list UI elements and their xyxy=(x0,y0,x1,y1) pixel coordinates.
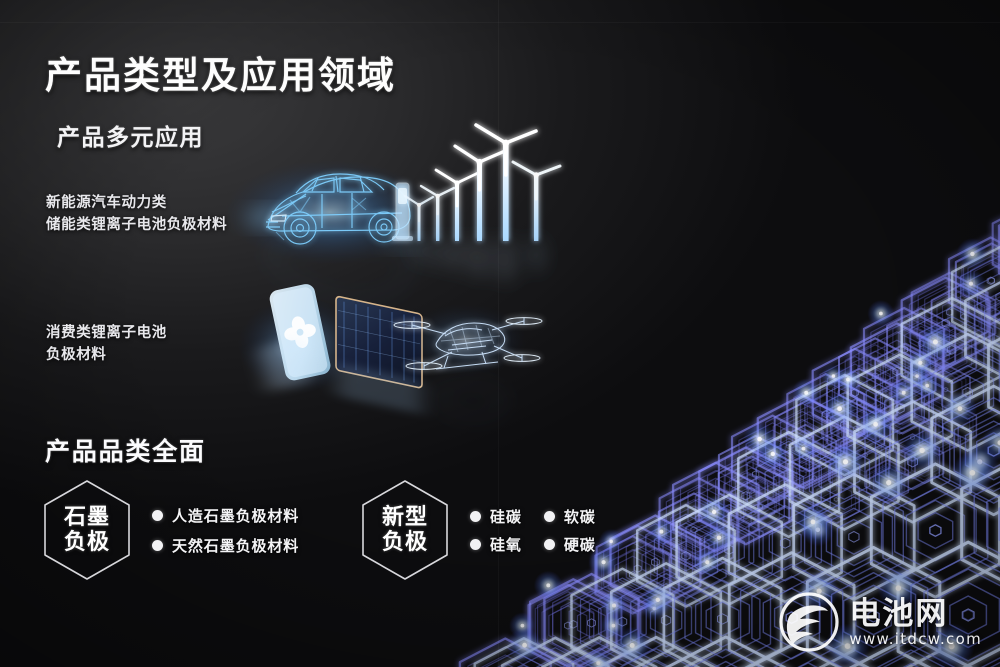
category-group-new-anode: 新型 负极 硅碳 软碳 硅氧 硬碳 xyxy=(356,478,596,582)
page-title: 产品类型及应用领域 xyxy=(45,45,396,99)
list-item-label: 软碳 xyxy=(564,506,596,527)
bullet-list-graphite: 人造石墨负极材料 天然石墨负极材料 xyxy=(152,505,299,556)
bullet-list-new-anode: 硅碳 软碳 硅氧 硬碳 xyxy=(470,506,596,555)
globe-swoosh-icon xyxy=(778,591,840,653)
watermark-text: 电池网 www.itdcw.com xyxy=(849,598,982,647)
list-item: 硅氧 xyxy=(470,534,522,555)
hex-badge-new-anode: 新型 负极 xyxy=(356,478,454,582)
list-item: 天然石墨负极材料 xyxy=(152,535,299,556)
list-item-label: 硅氧 xyxy=(490,534,522,555)
list-item-label: 硬碳 xyxy=(564,534,596,555)
hex-badge-graphite-label: 石墨 负极 xyxy=(64,505,110,554)
list-item-label: 天然石墨负极材料 xyxy=(172,535,299,556)
list-item: 硬碳 xyxy=(544,534,596,555)
watermark: 电池网 www.itdcw.com xyxy=(778,591,982,653)
list-item-label: 人造石墨负极材料 xyxy=(172,505,299,526)
watermark-url: www.itdcw.com xyxy=(849,632,982,647)
content-layer: 产品类型及应用领域 产品多元应用 新能源汽车动力类 储能类锂离子电池负极材料 消… xyxy=(0,0,1000,667)
list-item: 硅碳 xyxy=(470,506,522,527)
callout-consumer: 消费类锂离子电池 负极材料 xyxy=(46,322,167,367)
bullet-dot-icon xyxy=(544,511,555,522)
bullet-dot-icon xyxy=(470,511,481,522)
section-subtitle: 产品多元应用 xyxy=(57,118,204,152)
slide-canvas: 产品类型及应用领域 产品多元应用 新能源汽车动力类 储能类锂离子电池负极材料 消… xyxy=(0,0,1000,667)
hex-badge-graphite: 石墨 负极 xyxy=(38,478,136,582)
bullet-dot-icon xyxy=(544,539,555,550)
bullet-dot-icon xyxy=(470,539,481,550)
list-item: 软碳 xyxy=(544,506,596,527)
callout-auto-power: 新能源汽车动力类 储能类锂离子电池负极材料 xyxy=(46,192,227,237)
section-two-title: 产品品类全面 xyxy=(45,432,206,468)
list-item: 人造石墨负极材料 xyxy=(152,505,299,526)
watermark-brand: 电池网 xyxy=(849,598,982,629)
bullet-dot-icon xyxy=(152,510,163,521)
bullet-dot-icon xyxy=(152,540,163,551)
hex-badge-new-anode-label: 新型 负极 xyxy=(382,505,428,554)
category-group-graphite: 石墨 负极 人造石墨负极材料 天然石墨负极材料 xyxy=(38,478,299,582)
list-item-label: 硅碳 xyxy=(490,506,522,527)
